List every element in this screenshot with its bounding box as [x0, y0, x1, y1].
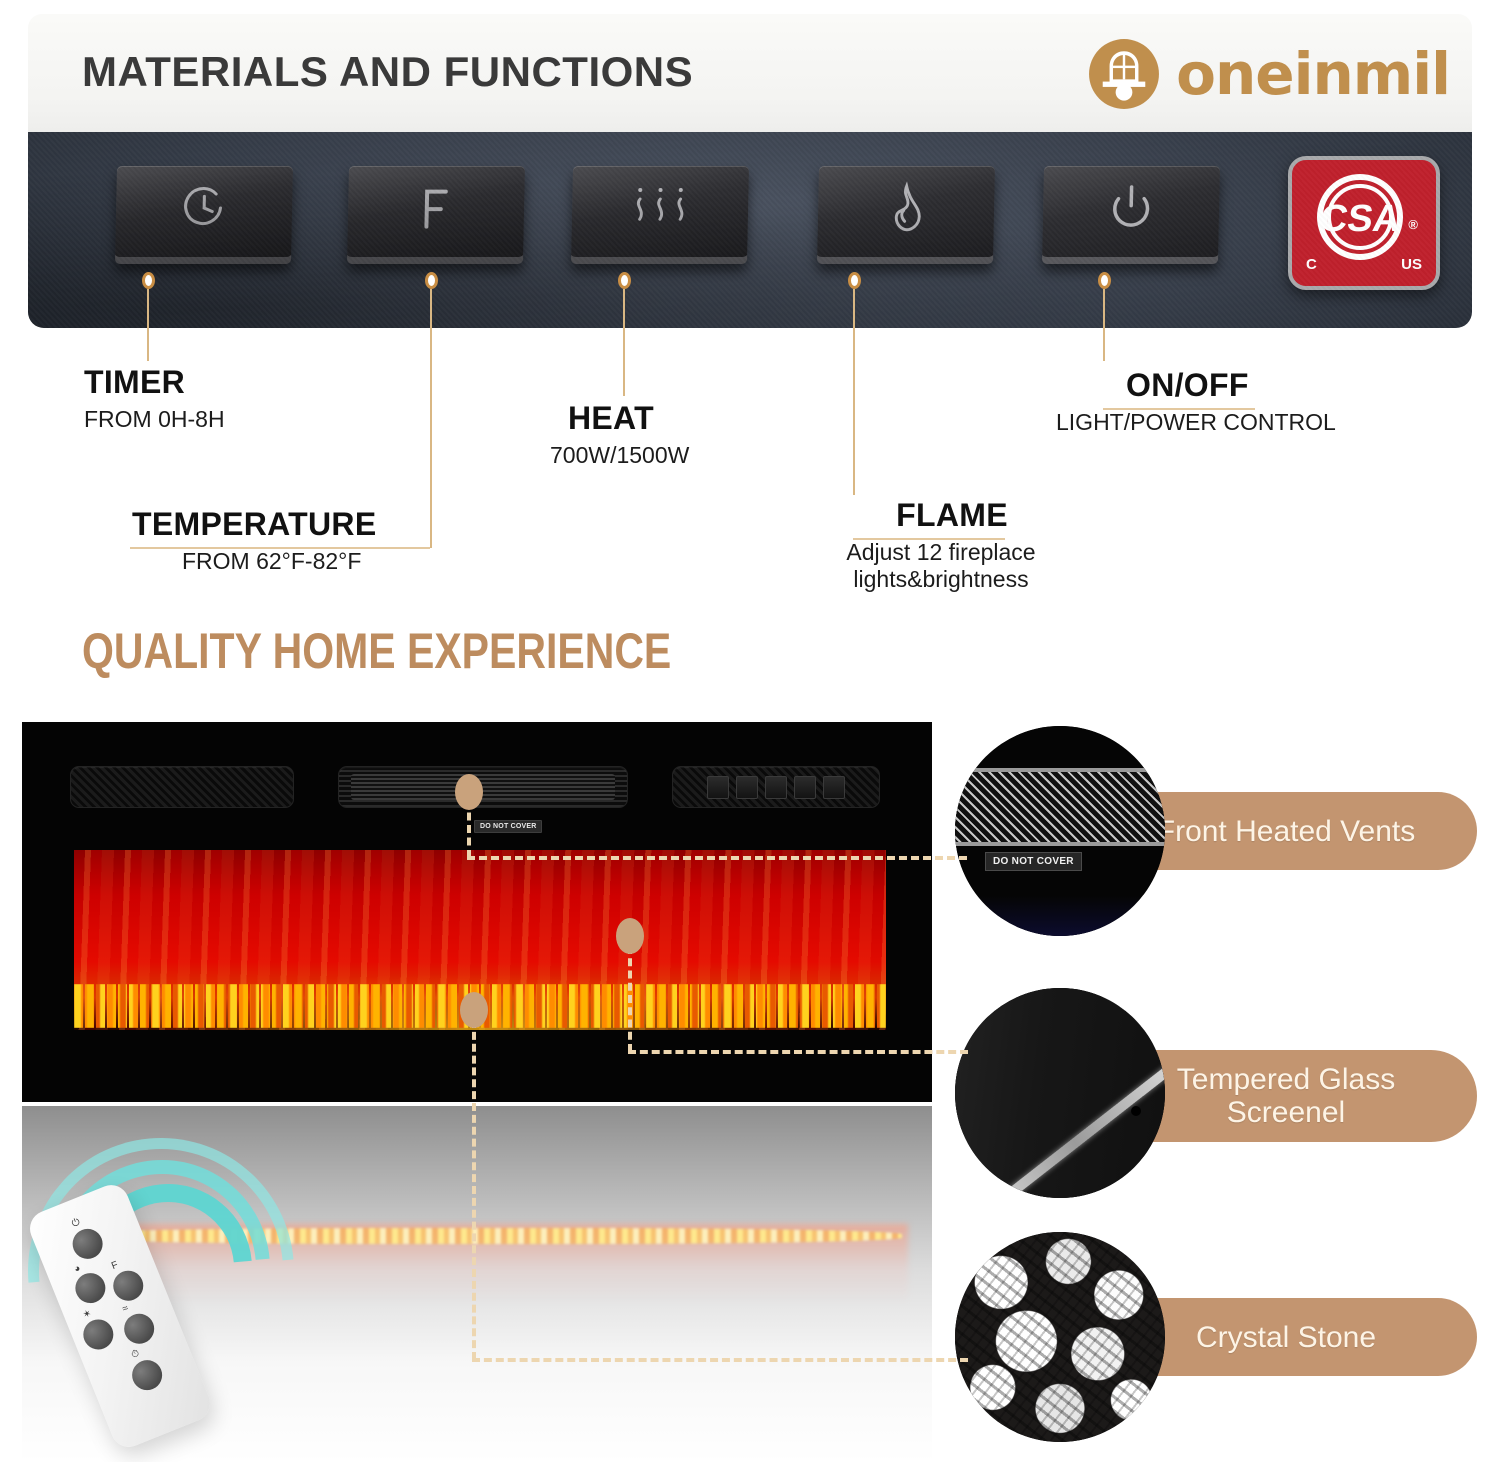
function-subtitle: 700W/1500W: [550, 442, 689, 469]
function-subtitle: Adjust 12 fireplace lights&brightness: [836, 539, 1046, 593]
pointer-dot-temperature: [425, 272, 438, 289]
underline-onoff: [1103, 408, 1255, 410]
onboard-button-2[interactable]: [736, 776, 758, 799]
page-header: MATERIALS AND FUNCTIONS oneinmil: [28, 14, 1472, 132]
glass-closeup-art: [955, 988, 1165, 1198]
svg-text:CSA: CSA: [1317, 197, 1403, 240]
crystal-closeup-art: [955, 1232, 1165, 1442]
underline-flame: [853, 538, 1005, 540]
ambience-scene-image: ⏻ ◕ F ✶ ≈ ⏱: [22, 1106, 932, 1462]
remote-button-heat[interactable]: [120, 1309, 159, 1348]
panel-button-temperature[interactable]: [347, 166, 525, 264]
function-subtitle: LIGHT/POWER CONTROL: [1056, 409, 1336, 436]
connector-crystal-horizontal: [472, 1358, 968, 1362]
power-icon: [1042, 166, 1220, 264]
vent-center-heated: [338, 766, 628, 808]
csa-mark-us: US: [1401, 256, 1422, 273]
timer-icon: [115, 166, 293, 264]
leader-line-timer: [147, 289, 149, 361]
connector-glass-vertical: [628, 946, 632, 1052]
onboard-button-4[interactable]: [794, 776, 816, 799]
arch-window-circle-logo-icon: [1086, 36, 1162, 112]
panel-button-heat[interactable]: [571, 166, 749, 264]
vent-closeup-art: DO NOT COVER: [955, 726, 1165, 936]
section-heading: QUALITY HOME EXPERIENCE: [82, 622, 671, 680]
panel-button-power[interactable]: [1042, 166, 1220, 264]
fahrenheit-icon: F: [110, 1260, 120, 1272]
pointer-dot-timer: [142, 272, 155, 289]
callout-anchor-glass: [616, 918, 644, 954]
function-label-timer: TIMER FROM 0H-8H: [84, 366, 225, 433]
flame-icon: [817, 166, 995, 264]
feature-label: Crystal Stone: [1196, 1321, 1376, 1354]
brand-name: oneinmil: [1176, 45, 1450, 103]
function-subtitle: FROM 0H-8H: [84, 406, 225, 433]
remote-button-power[interactable]: [68, 1224, 107, 1263]
onboard-button-1[interactable]: [707, 776, 729, 799]
feature-label: Front Heated Vents: [1157, 815, 1416, 848]
brightness-icon: ✶: [81, 1308, 93, 1321]
function-subtitle: FROM 62°F-82°F: [182, 548, 377, 575]
power-icon: ⏻: [70, 1217, 81, 1230]
leader-line-flame: [853, 289, 855, 495]
callout-anchor-vents: [455, 774, 483, 810]
registered-mark: ®: [1408, 217, 1418, 232]
function-title: FLAME: [858, 499, 1046, 533]
panel-button-timer[interactable]: [115, 166, 293, 264]
csa-certification-badge: CSA ® C US: [1288, 156, 1440, 290]
remote-control-illustration: ⏻ ◕ F ✶ ≈ ⏱: [62, 1166, 362, 1462]
pointer-dot-heat: [618, 272, 631, 289]
do-not-cover-label: DO NOT COVER: [474, 820, 542, 833]
fahrenheit-icon: [347, 166, 525, 264]
control-panel-photo: CSA ® C US: [28, 132, 1472, 328]
remote-button-flame[interactable]: [109, 1266, 148, 1305]
leader-line-power: [1103, 289, 1105, 361]
connector-crystal-vertical: [472, 1020, 476, 1360]
vent-right-controls: [672, 766, 880, 808]
function-label-flame: FLAME Adjust 12 fireplace lights&brightn…: [858, 499, 1046, 593]
function-label-temperature: TEMPERATURE FROM 62°F-82°F: [132, 508, 377, 575]
csa-mark-c: C: [1306, 256, 1317, 273]
connector-glass-horizontal: [628, 1050, 968, 1054]
function-label-heat: HEAT 700W/1500W: [568, 402, 689, 469]
vent-left: [70, 766, 294, 808]
leader-line-temperature: [430, 289, 432, 548]
do-not-cover-closeup-label: DO NOT COVER: [985, 852, 1082, 871]
onboard-control-buttons[interactable]: [707, 776, 845, 799]
onboard-button-3[interactable]: [765, 776, 787, 799]
feature-label: Tempered Glass Screenel: [1125, 1063, 1447, 1129]
pointer-dot-power: [1098, 272, 1111, 289]
callout-anchor-crystal: [460, 992, 488, 1028]
function-title: HEAT: [568, 402, 689, 436]
leader-line-heat: [623, 289, 625, 396]
underline-temperature: [130, 547, 430, 549]
function-title: TEMPERATURE: [132, 508, 377, 542]
page-title: MATERIALS AND FUNCTIONS: [82, 48, 693, 96]
heat-waves-icon: [571, 166, 749, 264]
brand-logo: oneinmil: [1086, 36, 1450, 112]
panel-button-flame[interactable]: [817, 166, 995, 264]
function-title: ON/OFF: [1126, 369, 1336, 403]
timer-icon: ⏱: [130, 1348, 141, 1361]
flame-icon: ◕: [72, 1263, 82, 1275]
remote-button-timer[interactable]: [128, 1356, 167, 1395]
connector-vents-horizontal: [467, 856, 967, 860]
pointer-dot-flame: [848, 272, 861, 289]
function-title: TIMER: [84, 366, 225, 400]
onboard-button-5[interactable]: [823, 776, 845, 799]
function-label-onoff: ON/OFF LIGHT/POWER CONTROL: [1126, 369, 1336, 436]
heat-waves-icon: ≈: [121, 1303, 130, 1315]
